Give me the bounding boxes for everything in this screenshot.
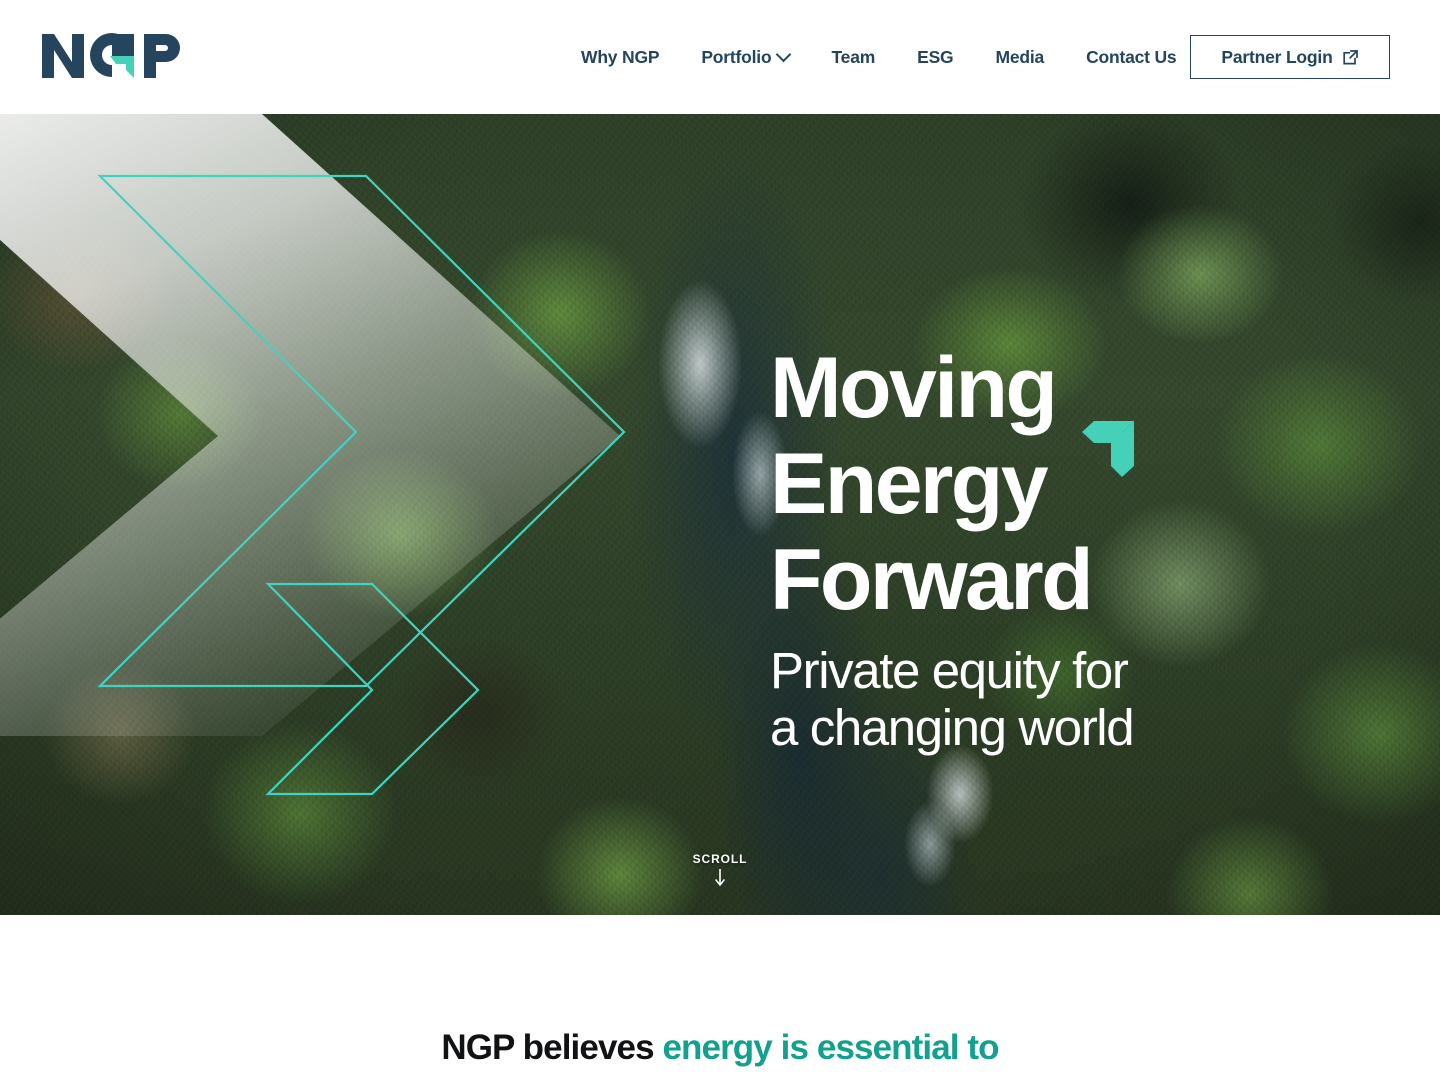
page-root: Why NGP Portfolio Team ESG Media Contact… <box>0 0 1440 1080</box>
scroll-label: SCROLL <box>0 852 1440 866</box>
believes-section: NGP believes energy is essential to <box>0 915 1440 1080</box>
nav-label: Contact Us <box>1086 0 1176 114</box>
main-navigation: Why NGP Portfolio Team ESG Media Contact… <box>560 0 1197 114</box>
nav-label: Portfolio <box>701 0 771 114</box>
hero-title-line-2: Energy <box>770 436 1390 532</box>
nav-label: Media <box>995 0 1044 114</box>
hero-title-line-1: Moving <box>770 340 1390 436</box>
nav-item-why-ngp[interactable]: Why NGP <box>560 0 680 114</box>
nav-item-team[interactable]: Team <box>810 0 896 114</box>
external-link-icon <box>1342 49 1359 66</box>
hero-copy: Moving Energy Forward Private equity for… <box>770 340 1390 756</box>
nav-item-media[interactable]: Media <box>974 0 1065 114</box>
believes-text-dark: NGP believes <box>441 1028 653 1067</box>
nav-item-portfolio[interactable]: Portfolio <box>680 0 810 114</box>
partner-login-button[interactable]: Partner Login <box>1190 35 1390 79</box>
believes-text-accent: energy is essential to <box>662 1028 998 1067</box>
hero-title-line-3: Forward <box>770 532 1390 628</box>
chevron-down-icon <box>776 46 792 62</box>
partner-login-label: Partner Login <box>1221 47 1332 68</box>
site-header: Why NGP Portfolio Team ESG Media Contact… <box>0 0 1440 114</box>
nav-label: Why NGP <box>581 0 659 114</box>
hero-subtitle-line-1: Private equity for <box>770 642 1170 699</box>
scroll-indicator[interactable]: SCROLL <box>0 852 1440 888</box>
nav-label: ESG <box>917 0 953 114</box>
hero-title: Moving Energy Forward <box>770 340 1390 628</box>
arrow-down-icon <box>713 868 727 888</box>
hero-section: Moving Energy Forward Private equity for… <box>0 114 1440 915</box>
ngp-logo-mark <box>40 30 186 82</box>
nav-label: Team <box>831 0 875 114</box>
nav-item-contact-us[interactable]: Contact Us <box>1065 0 1197 114</box>
hero-subtitle-line-2: a changing world <box>770 699 1170 756</box>
nav-item-esg[interactable]: ESG <box>896 0 974 114</box>
believes-headline: NGP believes energy is essential to <box>0 1027 1440 1069</box>
hero-subtitle: Private equity for a changing world <box>770 642 1170 756</box>
ngp-logo[interactable] <box>40 30 186 82</box>
